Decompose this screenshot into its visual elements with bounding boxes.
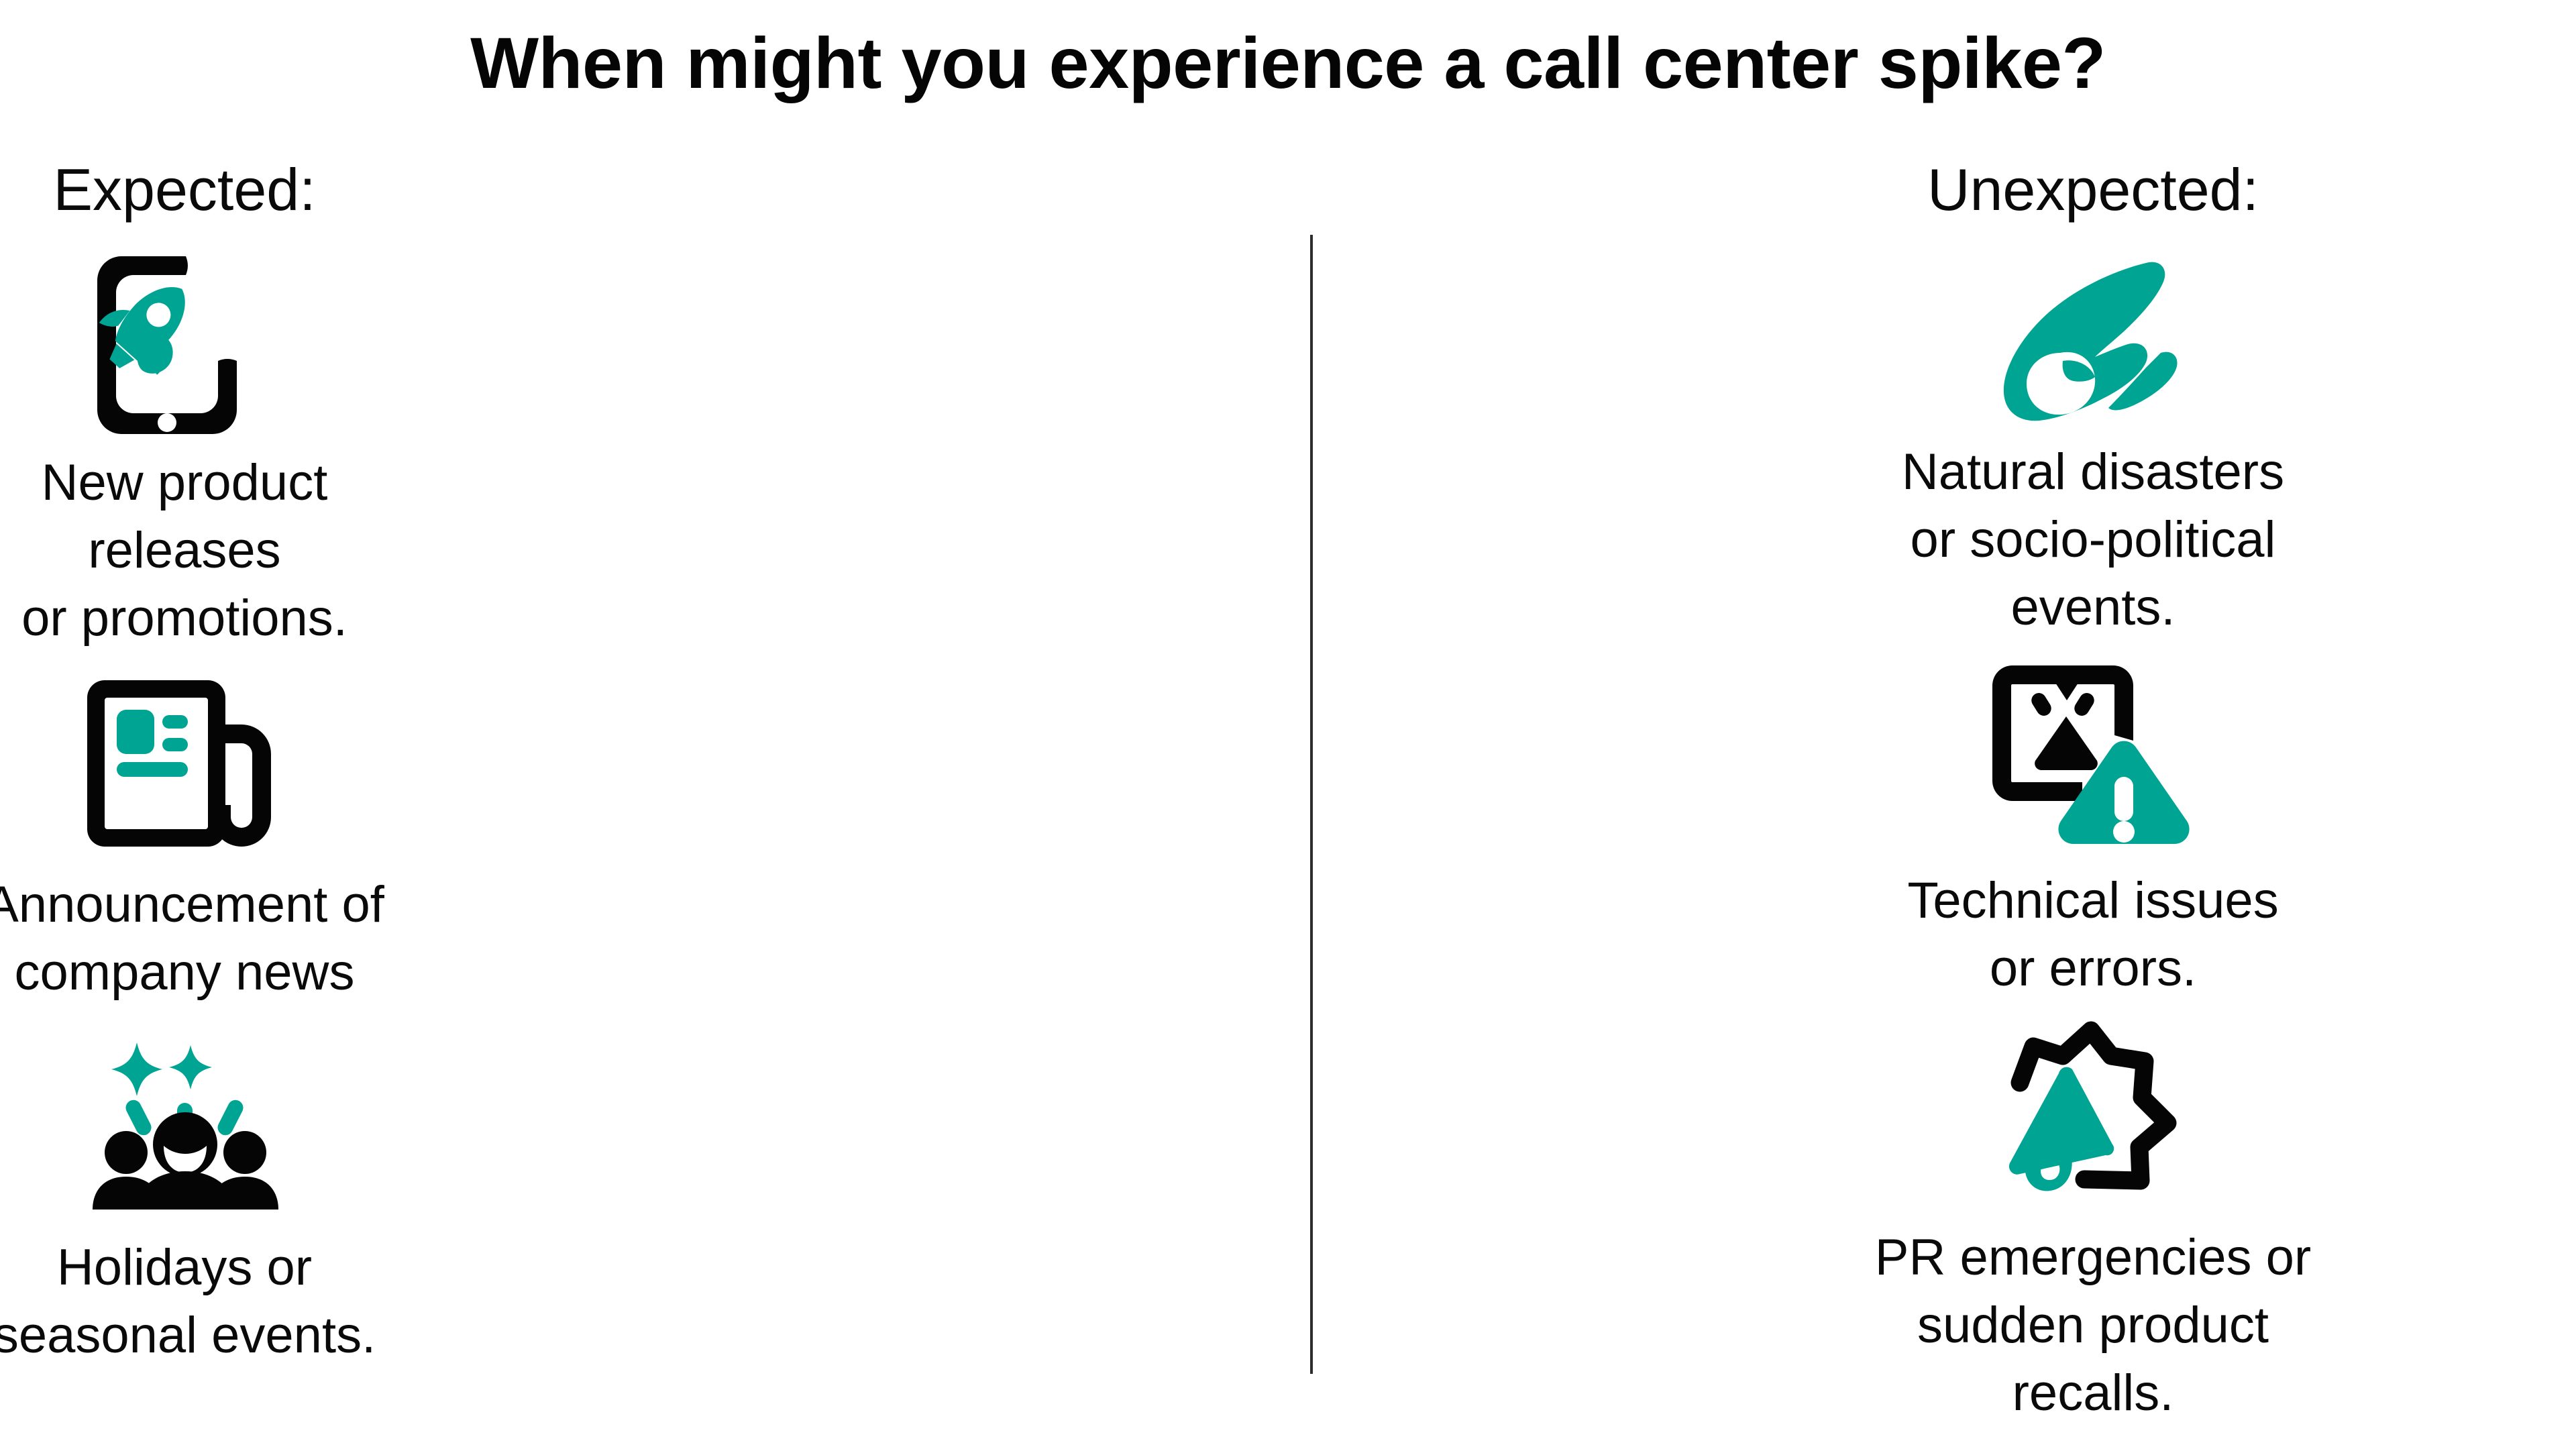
list-item-caption: Technical issues or errors. (1907, 867, 2278, 1002)
list-item-caption: PR emergencies or sudden product recalls… (1875, 1224, 2312, 1427)
list-item-caption: Announcement of company news (0, 871, 384, 1006)
list-item-caption: Natural disasters or socio-political eve… (1902, 438, 2284, 641)
list-item: PR emergencies or sudden product recalls… (1791, 1028, 2395, 1427)
column-expected: Expected: (0, 158, 1288, 1369)
column-unexpected: Unexpected: (1288, 158, 2576, 1427)
phone-rocket-icon (97, 256, 272, 434)
newspaper-icon (87, 680, 282, 848)
column-heading-expected: Expected: (53, 158, 315, 223)
list-item-caption: Holidays or seasonal events. (0, 1234, 376, 1369)
unexpected-items: Natural disasters or socio-political eve… (1449, 223, 2576, 1428)
megaphone-burst-icon (2001, 1028, 2186, 1202)
celebrating-people-icon (93, 1038, 277, 1210)
page-title: When might you experience a call center … (0, 20, 2576, 105)
list-item-caption: New product releases or promotions. (21, 449, 347, 652)
list-item: Technical issues or errors. (1791, 665, 2395, 1002)
list-item: New product releases or promotions. (0, 256, 486, 652)
expected-items: New product releases or promotions. (0, 223, 828, 1370)
broken-image-warning-icon (1992, 665, 2194, 847)
columns-container: Expected: (0, 158, 2576, 1449)
comet-icon (2002, 254, 2184, 425)
list-item: Natural disasters or socio-political eve… (1791, 254, 2395, 641)
column-heading-unexpected: Unexpected: (1927, 158, 2259, 223)
infographic-slide: When might you experience a call center … (0, 0, 2576, 1449)
list-item: Announcement of company news (0, 680, 486, 1006)
list-item: Holidays or seasonal events. (0, 1038, 486, 1369)
